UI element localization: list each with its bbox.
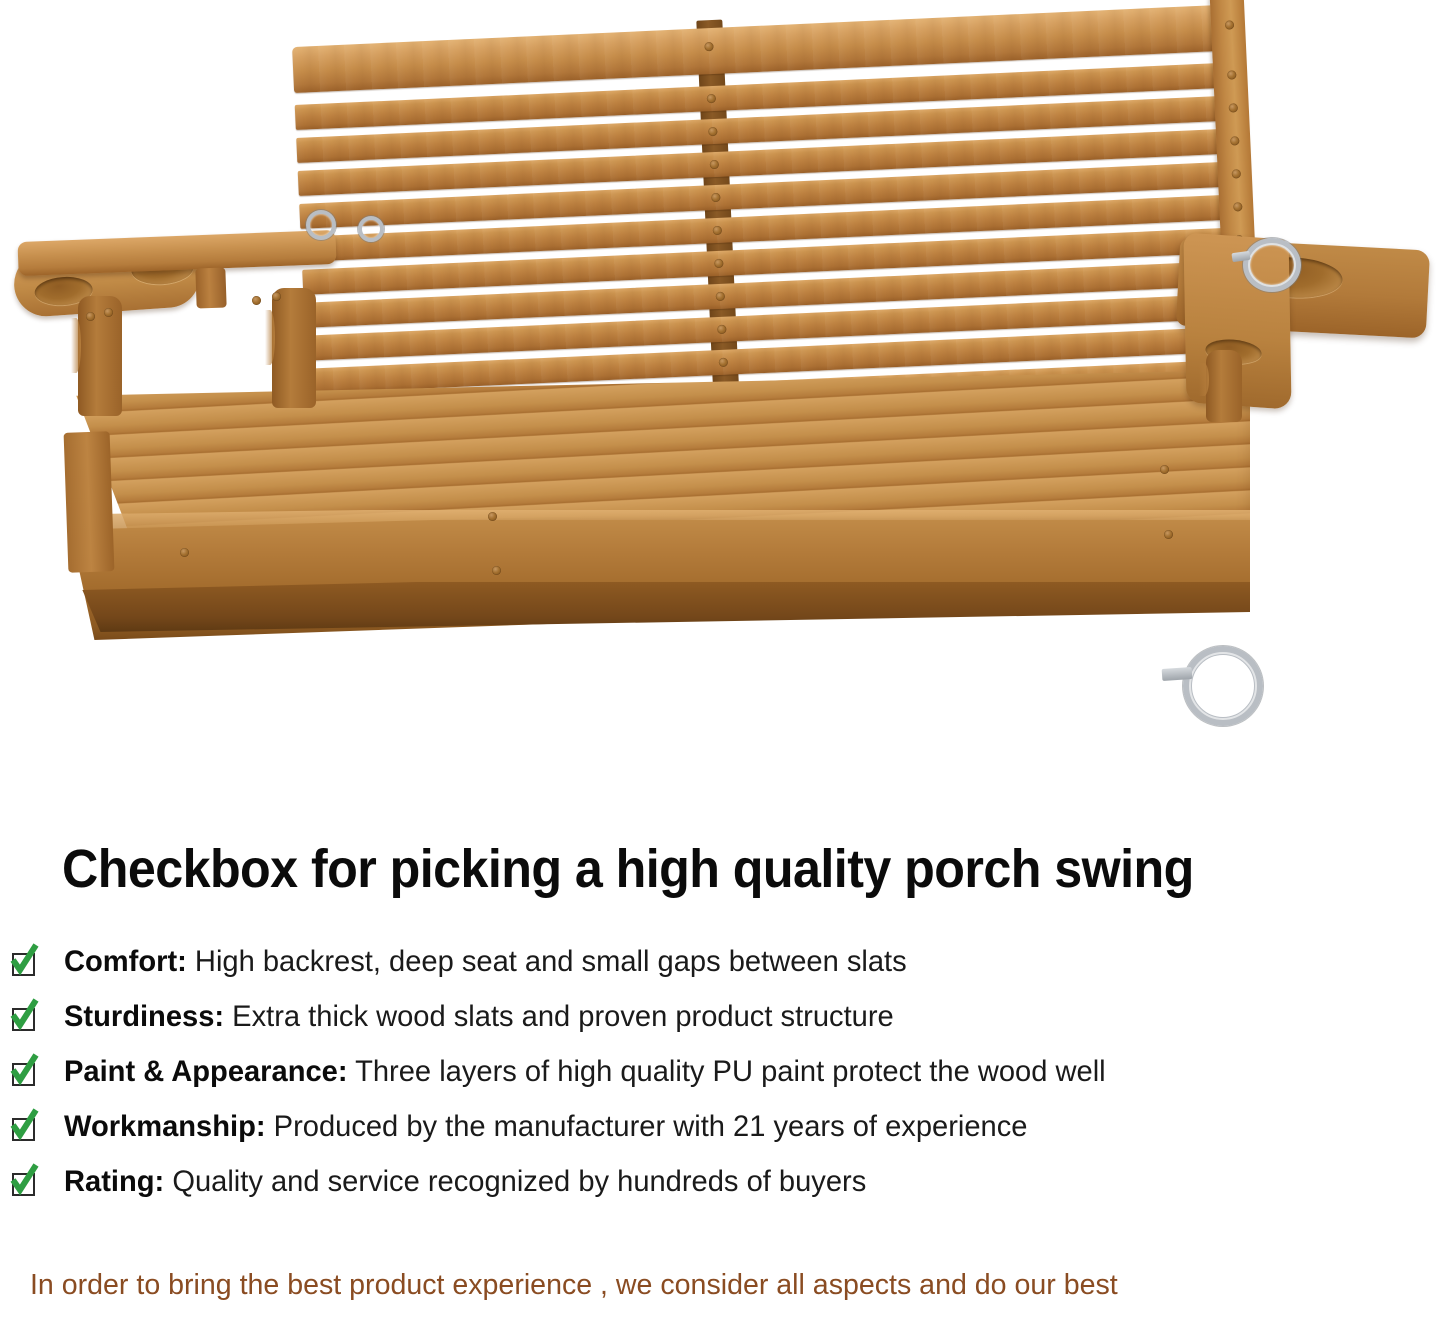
check-mark-icon (9, 943, 39, 977)
list-item-description: Extra thick wood slats and proven produc… (232, 1000, 894, 1033)
screw-icon (492, 566, 501, 575)
green-check-box-icon (8, 1168, 38, 1198)
left-armrest (17, 230, 336, 276)
list-item-text: Rating: Quality and service recognized b… (64, 1160, 866, 1204)
ring-shank (1162, 667, 1193, 681)
list-item-label: Paint & Appearance: (64, 1055, 348, 1088)
left-front-leg (78, 296, 122, 416)
screw-icon (104, 308, 113, 317)
list-item: Rating: Quality and service recognized b… (8, 1160, 1438, 1215)
list-item-text: Workmanship: Produced by the manufacture… (64, 1105, 1027, 1149)
check-mark-icon (9, 1108, 39, 1142)
seat-left-end-cap (64, 431, 115, 573)
screw-icon (1160, 465, 1169, 474)
green-check-box-icon (8, 948, 38, 978)
seat-assembly (40, 370, 1250, 660)
check-mark-icon (9, 1163, 39, 1197)
hanging-ring-icon (1243, 238, 1301, 292)
list-item: Comfort: High backrest, deep seat and sm… (8, 940, 1438, 995)
screw-icon (86, 312, 95, 321)
list-item-label: Workmanship: (64, 1110, 266, 1143)
page-title: Checkbox for picking a high quality porc… (62, 838, 1194, 900)
ring-gloss (1189, 652, 1257, 720)
footer-note: In order to bring the best product exper… (30, 1268, 1118, 1302)
screw-icon (180, 548, 189, 557)
check-mark-icon (9, 1053, 39, 1087)
list-item: Paint & Appearance: Three layers of high… (8, 1050, 1438, 1105)
screw-icon (272, 292, 281, 301)
hanging-ring-icon (306, 210, 336, 240)
list-item-description: Quality and service recognized by hundre… (172, 1165, 866, 1198)
list-item-description: High backrest, deep seat and small gaps … (195, 945, 907, 978)
screw-icon (1164, 530, 1173, 539)
list-item: Sturdiness: Extra thick wood slats and p… (8, 995, 1438, 1050)
green-check-box-icon (8, 1113, 38, 1143)
hanging-ring-icon (1183, 646, 1263, 726)
seat-bottom-rail (40, 582, 1250, 632)
screw-icon (488, 512, 497, 521)
list-item: Workmanship: Produced by the manufacture… (8, 1105, 1438, 1160)
green-check-box-icon (8, 1003, 38, 1033)
list-item-label: Rating: (64, 1165, 164, 1198)
green-check-box-icon (8, 1058, 38, 1088)
list-item-text: Sturdiness: Extra thick wood slats and p… (64, 995, 894, 1039)
list-item-text: Paint & Appearance: Three layers of high… (64, 1050, 1106, 1094)
left-rear-leg (272, 288, 316, 408)
list-item-label: Sturdiness: (64, 1000, 224, 1033)
left-arm-support-block (195, 267, 226, 308)
ring-gloss (1248, 243, 1296, 287)
hanging-ring-icon (358, 216, 384, 242)
list-item-text: Comfort: High backrest, deep seat and sm… (64, 940, 907, 984)
feature-checklist: Comfort: High backrest, deep seat and sm… (8, 940, 1438, 1215)
list-item-label: Comfort: (64, 945, 187, 978)
screw-icon (252, 296, 261, 305)
check-mark-icon (9, 998, 39, 1032)
porch-swing-illustration (0, 0, 1445, 800)
marketing-text-block: Checkbox for picking a high quality porc… (0, 800, 1445, 1332)
right-arm-leg (1206, 350, 1242, 422)
product-image (0, 0, 1445, 800)
list-item-description: Produced by the manufacturer with 21 yea… (274, 1110, 1028, 1143)
list-item-description: Three layers of high quality PU paint pr… (355, 1055, 1106, 1088)
